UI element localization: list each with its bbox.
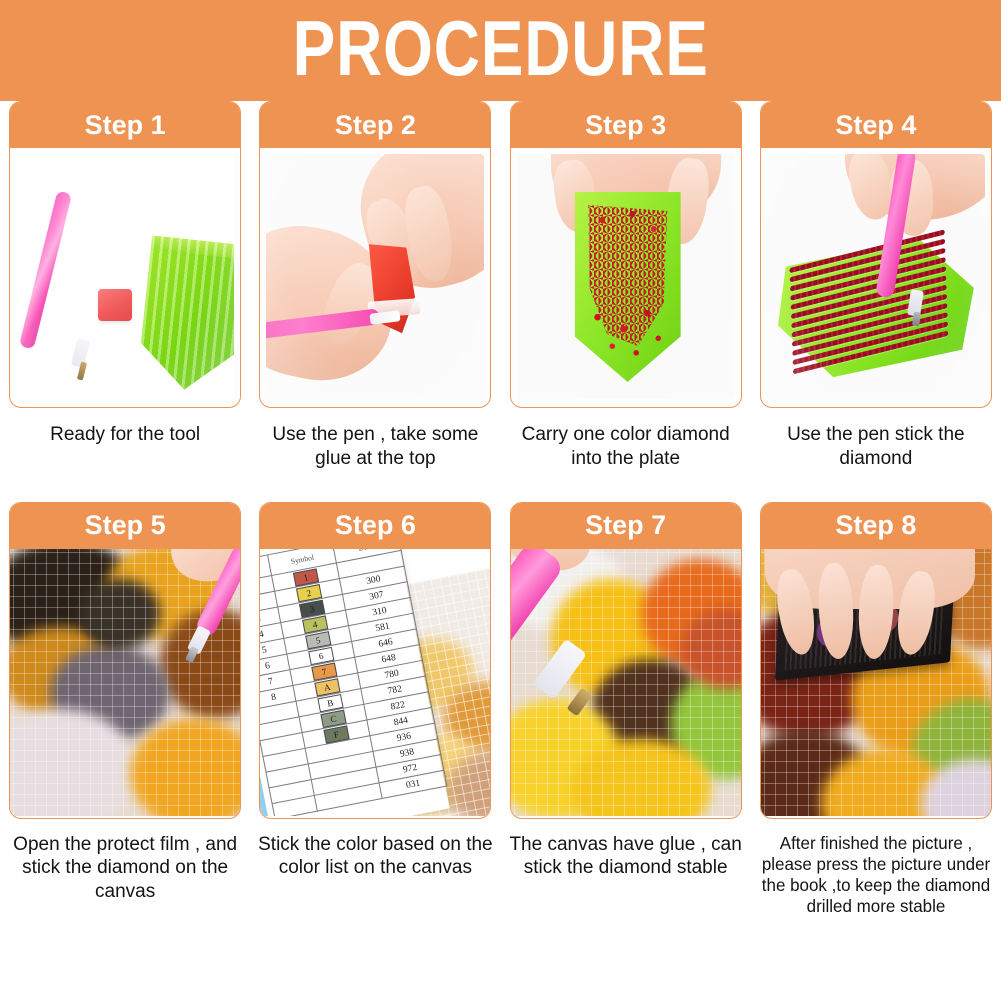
pen-pickup-illustration (767, 154, 985, 399)
steps-row-top: Step 1 (0, 101, 1001, 408)
step-header-4: Step 4 (761, 102, 991, 148)
steps-row-bottom: Step 5 Step 6 (0, 502, 1001, 819)
step-caption-8: After finished the picture , please pres… (759, 833, 992, 917)
step-cell-6: Step 6 (250, 502, 500, 819)
step-card-5[interactable]: Step 5 (9, 502, 241, 819)
drill-grid-texture (10, 549, 240, 816)
step-header-1: Step 1 (10, 102, 240, 148)
diamond-tray-icon (137, 235, 235, 394)
step-photo-5 (10, 549, 240, 816)
step-header-7: Step 7 (511, 503, 741, 549)
step-card-8[interactable]: Step 8 (760, 502, 992, 819)
captions-row-bottom: Open the protect film , and stick the di… (0, 819, 1001, 917)
step-header-5: Step 5 (10, 503, 240, 549)
drill-closeup-illustration (511, 549, 741, 816)
step-photo-2 (260, 148, 490, 405)
step-card-2[interactable]: Step 2 (259, 101, 491, 408)
captions-row-top: Ready for the tool Use the pen , take so… (0, 408, 1001, 471)
glue-clay-icon (98, 289, 132, 321)
tools-illustration (16, 154, 234, 399)
step-caption-1: Ready for the tool (5, 423, 245, 447)
step-caption-7: The canvas have glue , can stick the dia… (506, 833, 746, 881)
aligned-drills-icon (789, 229, 948, 382)
step-card-7[interactable]: Step 7 (510, 502, 742, 819)
tray-fill-illustration (517, 154, 735, 399)
step-cell-8: Step 8 (751, 502, 1001, 819)
step-caption-5: Open the protect film , and stick the di… (5, 833, 245, 904)
red-drills-scatter-icon (581, 304, 673, 370)
step-cell-3: Step 3 (501, 101, 751, 408)
step-photo-1 (10, 148, 240, 405)
step-card-4[interactable]: Step 4 (760, 101, 992, 408)
color-chart-illustration: Serial Symbol DMC 1122300333074431055581… (260, 549, 490, 816)
press-book-illustration (761, 549, 991, 816)
step-card-1[interactable]: Step 1 (9, 101, 241, 408)
page-banner: PROCEDURE (0, 0, 1001, 101)
drill-pen-icon (19, 191, 72, 350)
steps-grid: Step 1 (0, 101, 1001, 917)
page-title: PROCEDURE (292, 9, 708, 93)
step-cell-2: Step 2 (250, 101, 500, 408)
step-photo-6: Serial Symbol DMC 1122300333074431055581… (260, 549, 490, 816)
step-photo-7 (511, 549, 741, 816)
step-caption-3: Carry one color diamond into the plate (506, 423, 746, 471)
step-cell-5: Step 5 (0, 502, 250, 819)
step-caption-4: Use the pen stick the diamond (756, 423, 996, 471)
step-caption-2: Use the pen , take some glue at the top (255, 423, 495, 471)
canvas-mosaic-illustration (10, 549, 240, 816)
step-photo-8 (761, 549, 991, 816)
step-photo-3 (511, 148, 741, 405)
glue-pickup-illustration (266, 154, 484, 399)
step-card-3[interactable]: Step 3 (510, 101, 742, 408)
step-caption-6: Stick the color based on the color list … (255, 833, 495, 881)
step-card-6[interactable]: Step 6 (259, 502, 491, 819)
step-header-6: Step 6 (260, 503, 490, 549)
step-cell-4: Step 4 (751, 101, 1001, 408)
step-header-3: Step 3 (511, 102, 741, 148)
step-cell-7: Step 7 (501, 502, 751, 819)
step-cell-1: Step 1 (0, 101, 250, 408)
step-photo-4 (761, 148, 991, 405)
step-header-2: Step 2 (260, 102, 490, 148)
step-header-8: Step 8 (761, 503, 991, 549)
